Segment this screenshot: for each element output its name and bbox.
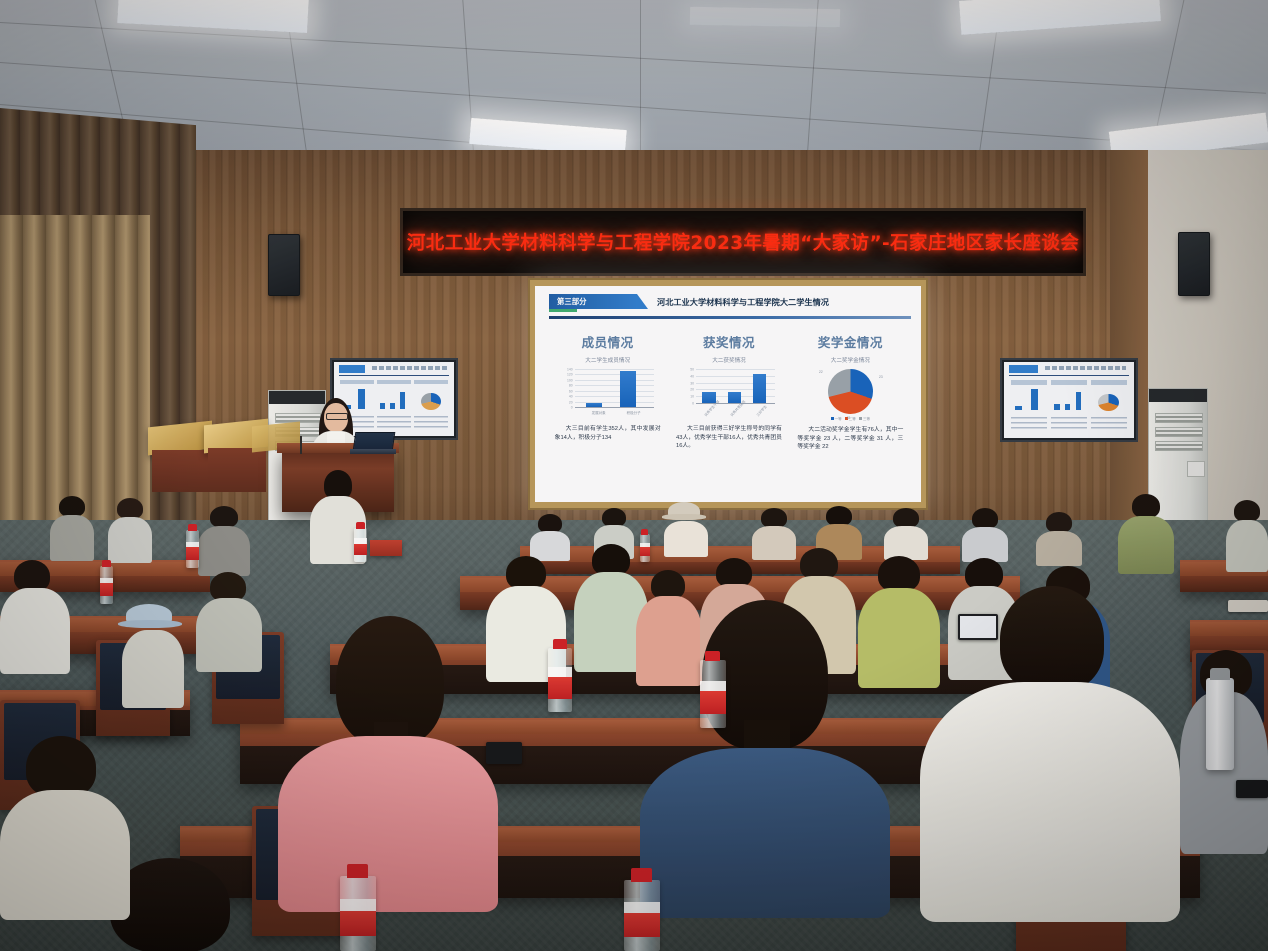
audience-member — [0, 560, 70, 670]
audience-member-foreground — [920, 586, 1180, 916]
y-tick: 30 — [681, 381, 694, 385]
conference-room-photo: 河北工业大学材料科学与工程学院2023年暑期“大家访”-石家庄地区家长座谈会 第… — [0, 0, 1268, 951]
projection-screen: 第三部分 河北工业大学材料科学与工程学院大二学生情况 成员情况 大二学生成员情况… — [528, 278, 928, 510]
smartphone-on-desk[interactable] — [486, 742, 522, 764]
water-bottle[interactable] — [186, 530, 199, 568]
audience-member-foreground — [640, 600, 890, 910]
chart-title: 大二奖学金情况 — [831, 356, 870, 364]
y-tick: 40 — [681, 374, 694, 378]
y-tick: 50 — [681, 367, 694, 371]
bar-chart-awards: 50 40 30 20 10 0 优秀学生干部 优秀共青团员 三好学生 — [681, 367, 777, 419]
column-body-text: 大二活动奖学金学生有76人，其中一等奖学金 23 人，二等奖学金 31 人，三等… — [797, 426, 903, 452]
presenter-glasses — [326, 413, 348, 420]
column-body-text: 大三目前获得三好学生称号的同学有43人，优秀学生干部16人，优秀共青团员16人。 — [676, 425, 782, 451]
bar-0 — [586, 403, 602, 407]
bar-chart-members: 140 120 100 80 60 40 20 0 发展对象 积极分子 — [560, 367, 656, 419]
y-tick: 10 — [681, 395, 694, 399]
water-bottle[interactable] — [640, 534, 650, 562]
plaque-stand-1 — [152, 450, 210, 492]
slide-header-title: 河北工业大学材料科学与工程学院大二学生情况 — [657, 294, 829, 309]
chart-title: 大二学生成员情况 — [585, 356, 630, 364]
slide-column-members: 成员情况 大二学生成员情况 140 120 100 80 60 40 20 0 — [547, 326, 668, 498]
audience-member — [198, 506, 250, 572]
slide-section-tag-label: 第三部分 — [549, 296, 587, 307]
document-on-desk[interactable] — [1228, 600, 1268, 612]
slide-content: 第三部分 河北工业大学材料科学与工程学院大二学生情况 成员情况 大二学生成员情况… — [535, 286, 921, 502]
led-banner-text: 河北工业大学材料科学与工程学院2023年暑期“大家访”-石家庄地区家长座谈会 — [407, 229, 1079, 255]
audience-member — [108, 498, 152, 560]
water-bottle[interactable] — [700, 660, 726, 728]
x-tick: 三好学生 — [755, 404, 768, 417]
y-tick: 0 — [560, 405, 573, 409]
water-bottle[interactable] — [100, 566, 113, 604]
y-tick: 100 — [560, 378, 573, 382]
slide-column-scholarship: 奖学金情况 大二奖学金情况 22 23 31 一等 二等 三等 大二活动奖学金学… — [790, 326, 911, 498]
smartphone-on-desk[interactable] — [1236, 780, 1268, 798]
audience-member-with-hat — [120, 604, 186, 704]
pie-chart-scholarship — [828, 369, 873, 414]
audience-member — [0, 736, 130, 916]
y-tick: 40 — [560, 395, 573, 399]
audience-member — [962, 508, 1008, 560]
led-banner: 河北工业大学材料科学与工程学院2023年暑期“大家访”-石家庄地区家长座谈会 — [400, 208, 1086, 276]
y-tick: 20 — [681, 388, 694, 392]
plaque-stand-2 — [208, 448, 266, 492]
ceiling-light — [690, 7, 840, 28]
pie-label-first: 23 — [879, 375, 883, 379]
legend-item-0: 一等 — [831, 417, 842, 422]
slide-divider — [549, 316, 911, 319]
column-heading: 奖学金情况 — [818, 332, 883, 351]
legend-item-2: 三等 — [859, 417, 870, 422]
water-bottle[interactable] — [548, 648, 572, 712]
x-tick: 积极分子 — [627, 411, 641, 416]
bar-1 — [620, 371, 636, 407]
audience-member — [884, 508, 928, 558]
torso — [920, 682, 1180, 922]
water-bottle[interactable] — [354, 528, 367, 562]
audience-member — [530, 514, 570, 558]
lectern-microphone — [300, 436, 302, 454]
slide-column-awards: 获奖情况 大二获奖情况 50 40 30 20 10 0 — [668, 326, 789, 498]
y-tick: 60 — [560, 389, 573, 393]
name-plate — [370, 540, 402, 556]
y-tick: 140 — [560, 367, 573, 371]
y-tick: 120 — [560, 373, 573, 377]
slide-accent-green — [549, 309, 577, 312]
audience-member — [1036, 512, 1082, 564]
ceiling-light — [117, 0, 309, 33]
wall-speaker-left — [268, 234, 300, 296]
bar-2 — [753, 374, 766, 403]
water-bottle[interactable] — [624, 880, 660, 951]
audience-member — [50, 496, 94, 558]
torso — [278, 736, 498, 912]
audience-member-with-cap — [662, 502, 710, 556]
audience-member — [196, 572, 262, 668]
audience-member — [1118, 494, 1174, 572]
slide-section-tag: 第三部分 — [549, 294, 637, 309]
chart-title: 大二获奖情况 — [712, 356, 746, 364]
column-heading: 成员情况 — [582, 332, 634, 351]
hair — [1000, 586, 1104, 692]
x-tick: 发展对象 — [592, 411, 606, 416]
presenter-laptop[interactable] — [350, 432, 394, 456]
right-wall-monitor — [1000, 358, 1138, 442]
y-tick: 80 — [560, 384, 573, 388]
y-tick: 20 — [560, 400, 573, 404]
y-tick: 0 — [681, 401, 694, 405]
column-body-text: 大三目前有学生352人，其中发展对象14人，积极分子134 — [555, 425, 661, 442]
water-bottle[interactable] — [340, 876, 376, 951]
audience-member-foreground — [278, 616, 498, 906]
torso — [640, 748, 890, 918]
wall-speaker-right — [1178, 232, 1210, 296]
pie-label-second: 31 — [847, 416, 851, 420]
ceiling-light — [959, 0, 1161, 35]
thermos-flask[interactable] — [1206, 678, 1234, 770]
audience-member — [1226, 500, 1268, 570]
column-heading: 获奖情况 — [703, 332, 755, 351]
pie-label-third: 22 — [819, 370, 823, 374]
